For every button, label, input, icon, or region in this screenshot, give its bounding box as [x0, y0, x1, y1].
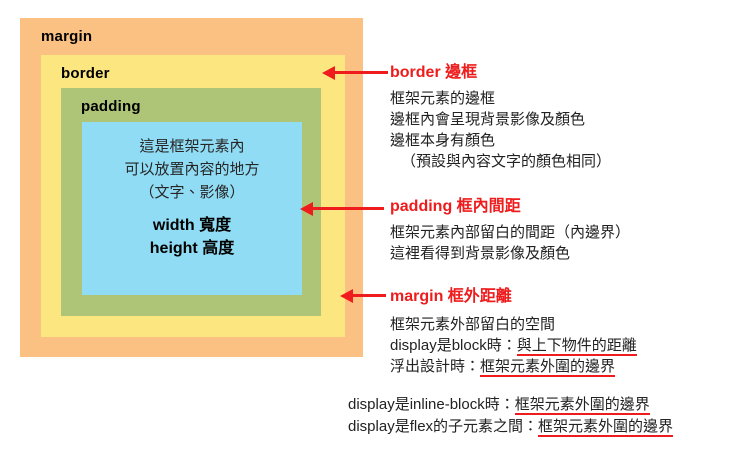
- content-layer: 這是框架元素內 可以放置內容的地方 （文字、影像） width 寬度 heigh…: [82, 122, 302, 295]
- content-text-line-2: 可以放置內容的地方: [124, 158, 259, 181]
- border-layer-label: border: [61, 65, 110, 82]
- extra-annotation-line-1: display是inline-block時：框架元素外圍的邊界: [348, 394, 673, 416]
- padding-layer: padding 這是框架元素內 可以放置內容的地方 （文字、影像） width …: [61, 88, 321, 316]
- content-text-line-3: （文字、影像）: [139, 181, 244, 204]
- border-callout-arrow-icon: [334, 71, 388, 74]
- border-annotation-line-4: （預設與內容文字的顏色相同）: [390, 151, 611, 172]
- content-width-label: width 寬度: [153, 214, 231, 237]
- margin-annotation-line-2-prefix: display是block時：: [390, 337, 517, 354]
- border-annotation-body: 框架元素的邊框 邊框內會呈現背景影像及顏色 邊框本身有顏色 （預設與內容文字的顏…: [390, 88, 611, 172]
- margin-layer-label: margin: [41, 28, 92, 45]
- border-annotation-title: border 邊框: [390, 58, 611, 82]
- border-layer: border padding 這是框架元素內 可以放置內容的地方 （文字、影像）…: [41, 55, 345, 337]
- content-height-label: height 高度: [150, 237, 234, 260]
- padding-annotation-title: padding 框內間距: [390, 192, 630, 216]
- extra-annotation-line-1-emphasis: 框架元素外圍的邊界: [515, 396, 650, 415]
- padding-annotation-line-2: 這裡看得到背景影像及顏色: [390, 243, 630, 264]
- border-annotation-line-3: 邊框本身有顏色: [390, 130, 611, 151]
- margin-annotation-body: 框架元素外部留白的空間 display是block時：與上下物件的距離 浮出設計…: [390, 314, 637, 377]
- border-annotation: border 邊框 框架元素的邊框 邊框內會呈現背景影像及顏色 邊框本身有顏色 …: [390, 58, 611, 172]
- margin-layer: margin border padding 這是框架元素內 可以放置內容的地方 …: [20, 18, 363, 357]
- margin-annotation-line-3-prefix: 浮出設計時：: [390, 358, 480, 375]
- content-text-line-1: 這是框架元素內: [139, 135, 244, 158]
- extra-annotation-line-2-emphasis: 框架元素外圍的邊界: [538, 418, 673, 437]
- margin-annotation-line-3: 浮出設計時：框架元素外圍的邊界: [390, 356, 637, 377]
- extra-annotation: display是inline-block時：框架元素外圍的邊界 display是…: [348, 394, 673, 438]
- margin-annotation-title: margin 框外距離: [390, 282, 637, 306]
- extra-annotation-line-2: display是flex的子元素之間：框架元素外圍的邊界: [348, 416, 673, 438]
- margin-annotation-line-2-emphasis: 與上下物件的距離: [517, 337, 637, 356]
- margin-annotation-line-1: 框架元素外部留白的空間: [390, 314, 637, 335]
- margin-callout-arrow-icon: [352, 294, 386, 297]
- margin-annotation-line-2: display是block時：與上下物件的距離: [390, 335, 637, 356]
- padding-callout-arrow-icon: [312, 207, 384, 210]
- box-model-diagram: margin border padding 這是框架元素內 可以放置內容的地方 …: [20, 18, 363, 357]
- padding-annotation-line-1: 框架元素內部留白的間距（內邊界）: [390, 222, 630, 243]
- margin-annotation: margin 框外距離 框架元素外部留白的空間 display是block時：與…: [390, 282, 637, 377]
- padding-annotation-body: 框架元素內部留白的間距（內邊界） 這裡看得到背景影像及顏色: [390, 222, 630, 264]
- padding-layer-label: padding: [81, 98, 141, 115]
- border-annotation-line-1: 框架元素的邊框: [390, 88, 611, 109]
- extra-annotation-line-2-prefix: display是flex的子元素之間：: [348, 418, 538, 435]
- padding-annotation: padding 框內間距 框架元素內部留白的間距（內邊界） 這裡看得到背景影像及…: [390, 192, 630, 264]
- extra-annotation-line-1-prefix: display是inline-block時：: [348, 396, 515, 413]
- border-annotation-line-2: 邊框內會呈現背景影像及顏色: [390, 109, 611, 130]
- margin-annotation-line-3-emphasis: 框架元素外圍的邊界: [480, 358, 615, 377]
